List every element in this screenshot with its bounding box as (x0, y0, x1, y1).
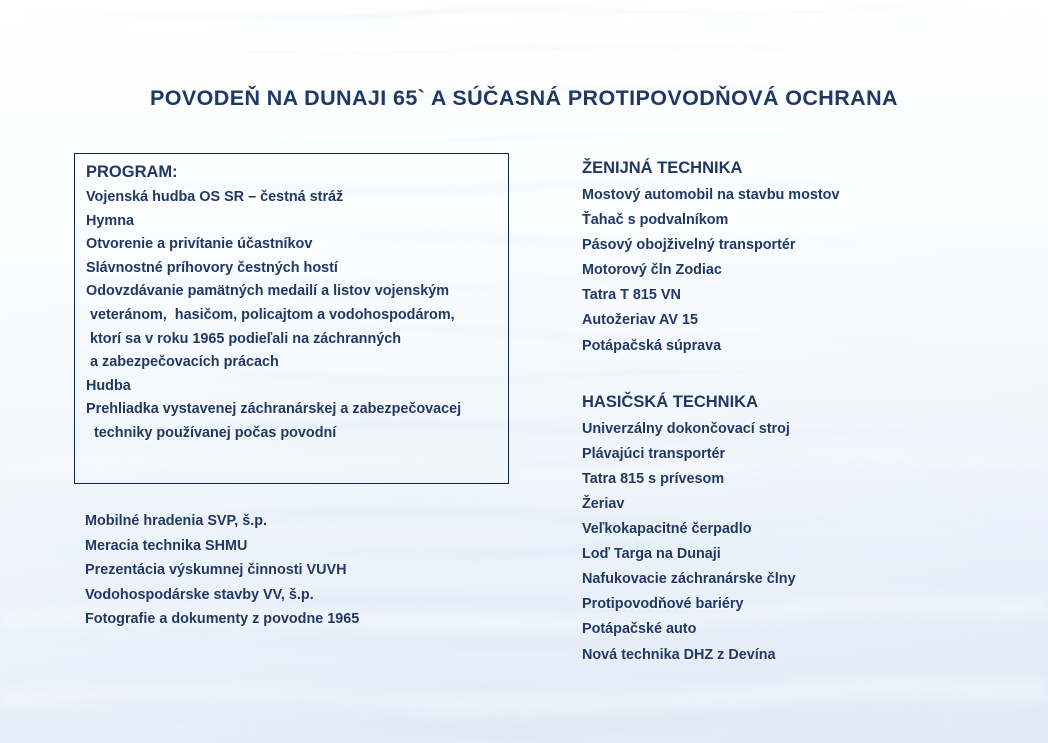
list-item: Fotografie a dokumenty z povodne 1965 (85, 607, 359, 632)
list-item: Nová technika DHZ z Devína (582, 643, 1012, 668)
program-line: Otvorenie a privítanie účastníkov (86, 233, 508, 257)
list-item: Plávajúci transportér (582, 442, 1012, 467)
program-line: Odovzdávanie pamätných medailí a listov … (86, 280, 508, 304)
equipment-columns: ŽENIJNÁ TECHNIKA Mostový automobil na st… (582, 155, 1012, 668)
page-title: POVODEŇ NA DUNAJI 65` A SÚČASNÁ PROTIPOV… (0, 86, 1048, 111)
list-item: Loď Targa na Dunaji (582, 542, 1012, 567)
list-item: Tatra T 815 VN (582, 283, 1012, 308)
list-item: Tatra 815 s prívesom (582, 467, 1012, 492)
additional-exhibits-list: Mobilné hradenia SVP, š.p. Meracia techn… (85, 509, 359, 632)
program-line: a zabezpečovacích prácach (86, 351, 508, 375)
list-item: Potápačské auto (582, 617, 1012, 642)
list-item: Ťahač s podvalníkom (582, 208, 1012, 233)
list-item: Protipovodňové bariéry (582, 592, 1012, 617)
list-item: Pásový obojživelný transportér (582, 233, 1012, 258)
program-line: Slávnostné príhovory čestných hostí (86, 257, 508, 281)
program-line: Vojenská hudba OS SR – čestná stráž (86, 186, 508, 210)
list-item: Meracia technika SHMU (85, 534, 359, 559)
program-line: Hymna (86, 210, 508, 234)
list-item: Nafukovacie záchranárske člny (582, 567, 1012, 592)
program-heading: PROGRAM: (86, 160, 508, 185)
section-zenijna-technika: ŽENIJNÁ TECHNIKA Mostový automobil na st… (582, 155, 1012, 359)
program-line: techniky používanej počas povodní (86, 422, 508, 446)
list-item: Veľkokapacitné čerpadlo (582, 517, 1012, 542)
list-item: Mobilné hradenia SVP, š.p. (85, 509, 359, 534)
section-hasicska-technika: HASIČSKÁ TECHNIKA Univerzálny dokončovac… (582, 389, 1012, 668)
program-line: Hudba (86, 375, 508, 399)
list-item: Autožeriav AV 15 (582, 308, 1012, 333)
presentation-slide: POVODEŇ NA DUNAJI 65` A SÚČASNÁ PROTIPOV… (0, 0, 1048, 743)
list-item: Potápačská súprava (582, 334, 1012, 359)
section-heading: ŽENIJNÁ TECHNIKA (582, 155, 1012, 181)
program-line: veteránom, hasičom, policajtom a vodohos… (86, 304, 508, 328)
list-item: Žeriav (582, 492, 1012, 517)
list-item: Motorový čln Zodiac (582, 258, 1012, 283)
program-box: PROGRAM: Vojenská hudba OS SR – čestná s… (74, 153, 509, 484)
list-item: Vodohospodárske stavby VV, š.p. (85, 583, 359, 608)
program-line: ktorí sa v roku 1965 podieľali na záchra… (86, 328, 508, 352)
section-heading: HASIČSKÁ TECHNIKA (582, 389, 1012, 415)
list-item: Univerzálny dokončovací stroj (582, 417, 1012, 442)
list-item: Prezentácia výskumnej činnosti VUVH (85, 558, 359, 583)
program-line: Prehliadka vystavenej záchranárskej a za… (86, 398, 508, 422)
list-item: Mostový automobil na stavbu mostov (582, 183, 1012, 208)
